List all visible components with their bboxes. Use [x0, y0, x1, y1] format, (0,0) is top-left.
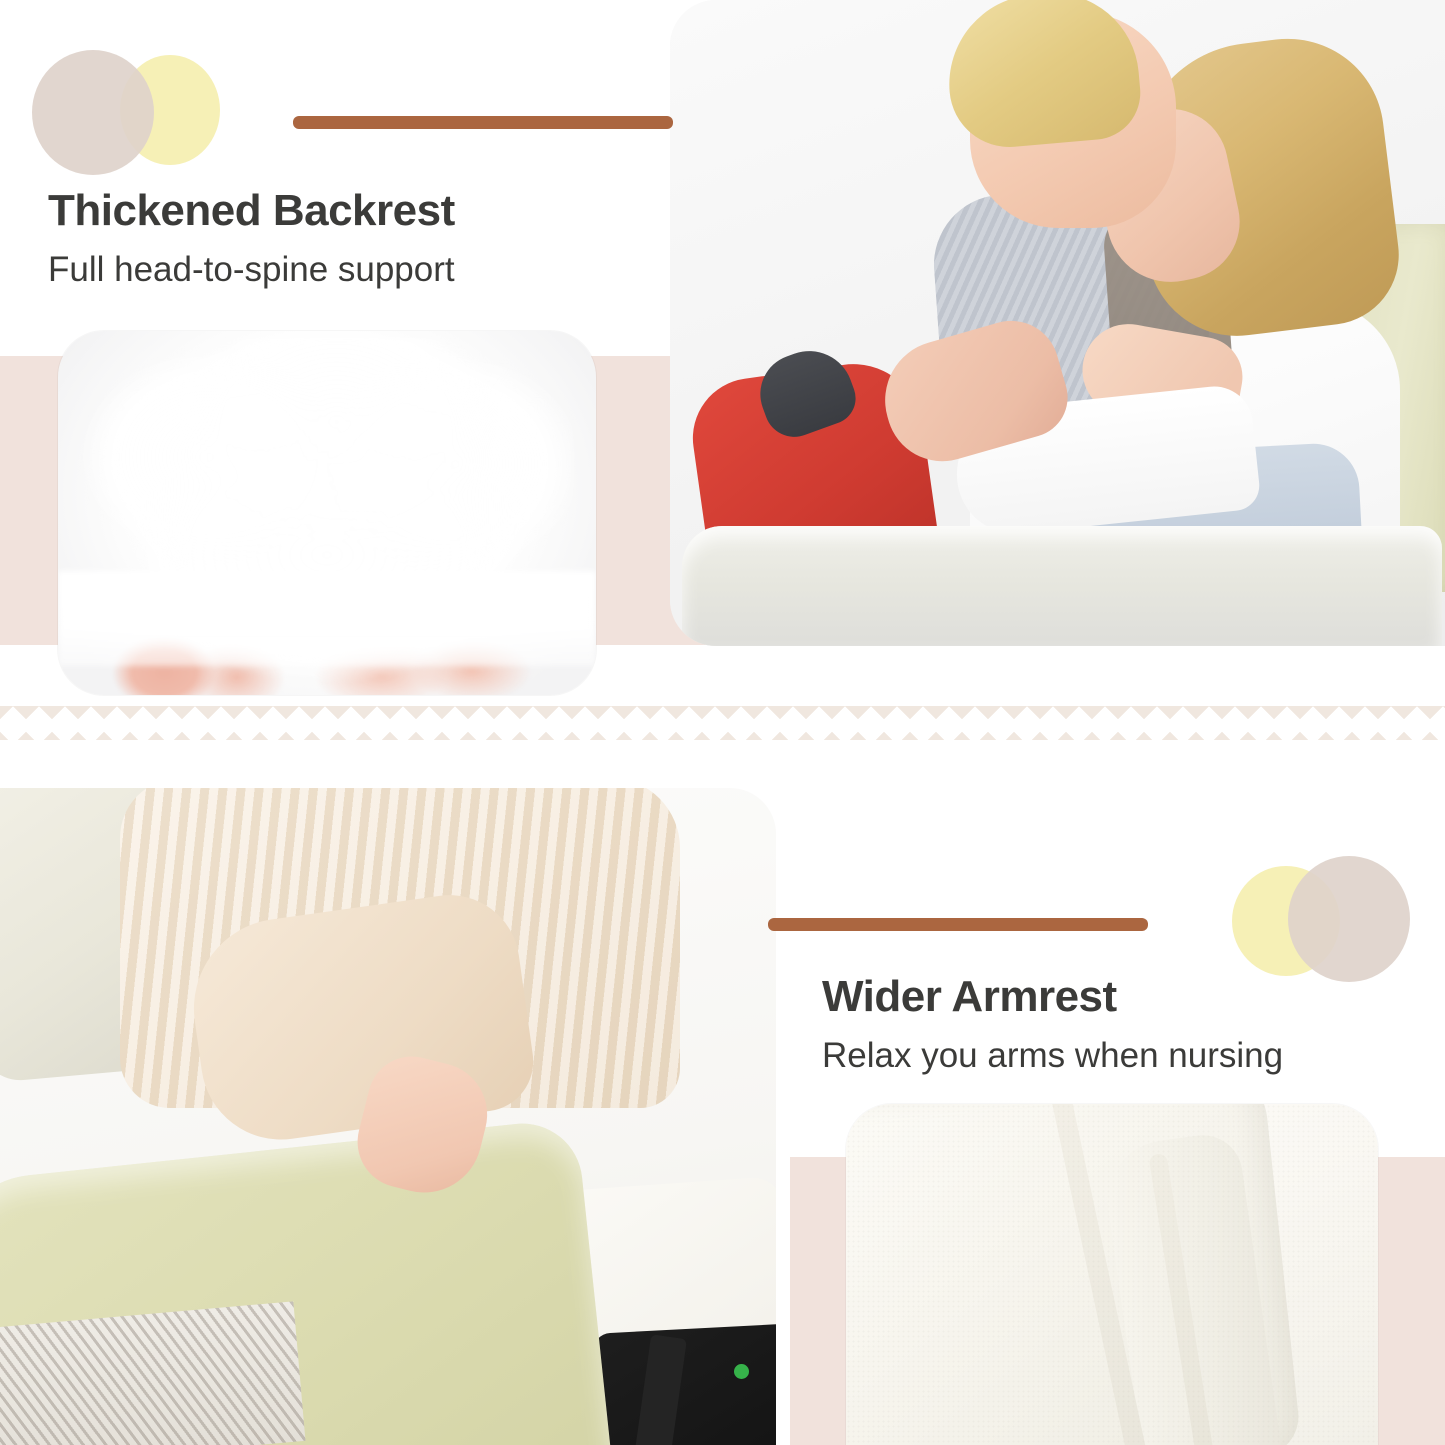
feature-text-wider-armrest: Wider Armrest Relax you arms when nursin… [822, 972, 1442, 1079]
detail-photo-armrest-closeup [846, 1104, 1378, 1445]
baby-hair [942, 0, 1144, 152]
subline-thickened-backrest: Full head-to-spine support [48, 247, 648, 293]
infographic-canvas: Thickened Backrest Full head-to-spine su… [0, 0, 1445, 1445]
lifestyle-photo-armrest-in-use [0, 788, 776, 1445]
headline-thickened-backrest: Thickened Backrest [48, 186, 648, 235]
taupe-circle-icon [1288, 856, 1410, 982]
mechanism-green-indicator [734, 1364, 749, 1379]
fiber-soft-veil [58, 571, 596, 666]
boucle-texture [846, 1104, 1378, 1445]
chair-seat-base [682, 526, 1442, 646]
headline-wider-armrest: Wider Armrest [822, 972, 1442, 1021]
accent-rule-bottom [768, 918, 1148, 931]
detail-photo-fiber-fill [58, 331, 596, 695]
taupe-circle-icon [32, 50, 154, 175]
floor-rug [0, 1301, 305, 1445]
lifestyle-photo-mother-and-baby [670, 0, 1445, 646]
feature-text-thickened-backrest: Thickened Backrest Full head-to-spine su… [48, 186, 648, 293]
accent-rule-top [293, 116, 673, 129]
zigzag-divider [0, 706, 1445, 740]
subline-wider-armrest: Relax you arms when nursing [822, 1033, 1442, 1079]
